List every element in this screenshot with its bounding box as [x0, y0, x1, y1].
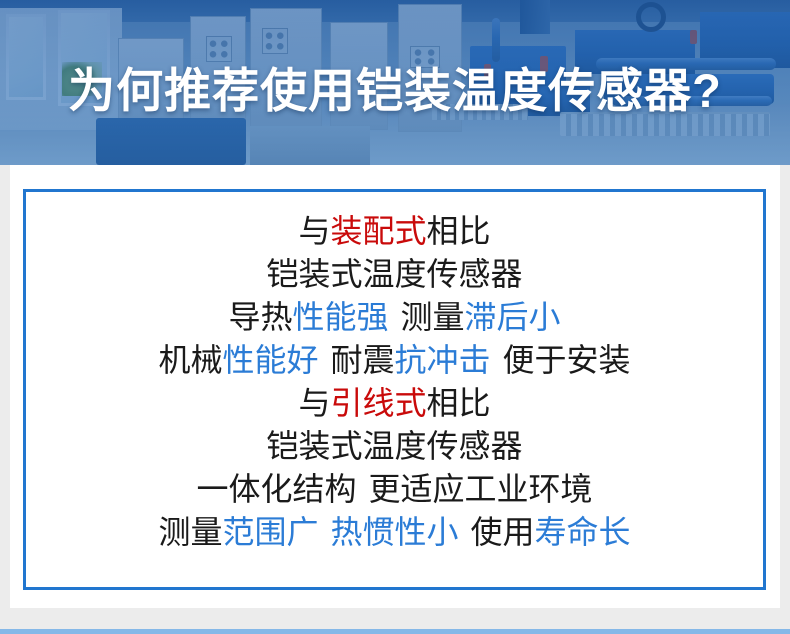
blue-frame-border: 与装配式相比铠装式温度传感器导热性能强测量滞后小机械性能好耐震抗冲击便于安装与引… [23, 189, 766, 590]
text-segment-blue: 寿命长 [535, 514, 631, 550]
feature-line-product-name-1: 铠装式温度传感器 [26, 253, 763, 296]
feature-line-compare-assembled: 与装配式相比 [26, 210, 763, 253]
text-segment-black: 测量 [158, 514, 222, 550]
text-segment-blue: 热惯性小 [330, 514, 458, 550]
text-segment-blue: 范围广 [222, 514, 318, 550]
text-segment-red: 引线式 [330, 385, 426, 421]
text-segment-black: 铠装式温度传感器 [266, 256, 522, 292]
text-segment-black: 铠装式温度传感器 [266, 428, 522, 464]
text-segment-black: 与 [298, 213, 330, 249]
feature-line-range-and-life: 测量范围广热惯性小使用寿命长 [26, 511, 763, 554]
footer-blue-band [0, 629, 790, 634]
feature-line-product-name-2: 铠装式温度传感器 [26, 425, 763, 468]
text-segment-black: 一体化结构 [196, 471, 356, 507]
feature-line-mechanical-advantage: 机械性能好耐震抗冲击便于安装 [26, 339, 763, 382]
content-card: 与装配式相比铠装式温度传感器导热性能强测量滞后小机械性能好耐震抗冲击便于安装与引… [10, 165, 780, 608]
text-segment-blue: 抗冲击 [395, 342, 491, 378]
feature-line-thermal-advantage: 导热性能强测量滞后小 [26, 296, 763, 339]
text-segment-black: 测量 [401, 299, 465, 335]
feature-line-compare-leadwire: 与引线式相比 [26, 382, 763, 425]
text-segment-blue: 滞后小 [465, 299, 561, 335]
text-segment-black: 相比 [427, 385, 491, 421]
feature-text-block: 与装配式相比铠装式温度传感器导热性能强测量滞后小机械性能好耐震抗冲击便于安装与引… [26, 210, 763, 554]
feature-line-integrated-structure: 一体化结构更适应工业环境 [26, 468, 763, 511]
text-segment-black: 相比 [427, 213, 491, 249]
text-segment-black: 便于安装 [503, 342, 631, 378]
text-segment-black: 机械 [158, 342, 222, 378]
header-banner: 为何推荐使用铠装温度传感器? [0, 0, 790, 165]
promo-page: 为何推荐使用铠装温度传感器? 与装配式相比铠装式温度传感器导热性能强测量滞后小机… [0, 0, 790, 634]
text-segment-black: 导热 [228, 299, 292, 335]
text-segment-blue: 性能强 [292, 299, 388, 335]
page-title: 为何推荐使用铠装温度传感器? [0, 67, 790, 114]
footer-gray-band [0, 608, 790, 629]
text-segment-black: 使用 [471, 514, 535, 550]
text-segment-red: 装配式 [330, 213, 426, 249]
text-segment-black: 耐震 [330, 342, 394, 378]
text-segment-black: 更适应工业环境 [369, 471, 593, 507]
text-segment-blue: 性能好 [222, 342, 318, 378]
text-segment-black: 与 [298, 385, 330, 421]
